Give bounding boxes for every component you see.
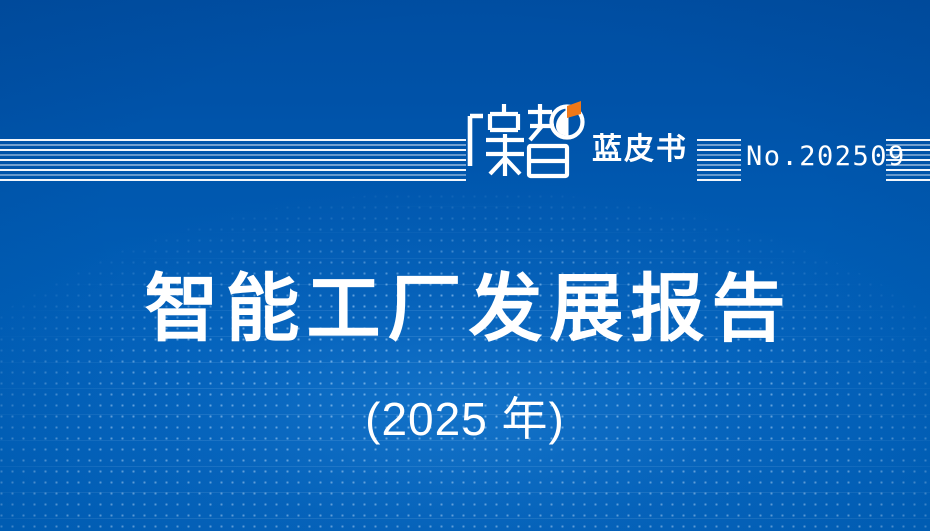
jizhi-logo-mark — [466, 92, 586, 184]
background-vignette — [0, 0, 930, 531]
series-label: 蓝皮书 — [592, 135, 688, 165]
page-title: 智能工厂发展报告 — [0, 272, 930, 346]
issue-number: No.202509 — [746, 143, 906, 170]
dotted-globe-graphic — [0, 191, 930, 531]
page-subtitle: (2025 年) — [0, 396, 930, 442]
background-glow — [0, 0, 930, 531]
globe-dot-grid — [0, 191, 930, 531]
globe-latitude-lines — [0, 191, 930, 531]
report-cover: 蓝皮书 No.202509 智能工厂发展报告 (2025 年) — [0, 0, 930, 531]
